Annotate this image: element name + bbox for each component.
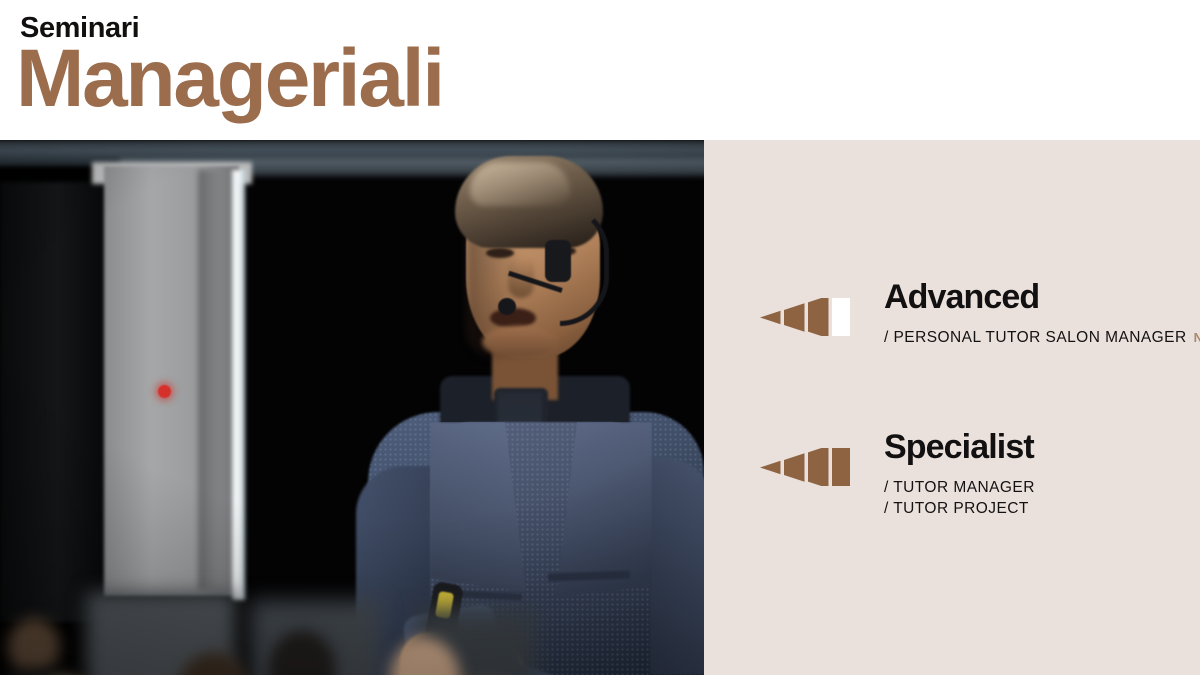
course-label: / PERSONAL TUTOR SALON MANAGER [884,329,1187,346]
page-title: Manageriali [16,38,443,120]
chevron-level-icon-advanced [760,298,850,336]
slide-root: Seminari Manageriali [0,0,1200,675]
level-courses-specialist: / TUTOR MANAGER / TUTOR PROJECT [884,477,1035,519]
stage-photo [0,140,704,675]
levels-panel: Advanced / PERSONAL TUTOR SALON MANAGERN… [704,140,1200,675]
course-line[interactable]: / TUTOR MANAGER [884,477,1035,498]
level-title-specialist: Specialist [884,430,1034,466]
course-line[interactable]: / PERSONAL TUTOR SALON MANAGERNEW [884,327,1200,348]
course-label: / TUTOR MANAGER [884,479,1035,496]
course-label: / TUTOR PROJECT [884,500,1029,517]
slide-header: Seminari Manageriali [0,0,1200,140]
status-badge: NEW [1194,330,1200,345]
level-title-advanced: Advanced [884,280,1039,316]
level-courses-advanced: / PERSONAL TUTOR SALON MANAGERNEW [884,327,1200,348]
chevron-level-icon-specialist [760,448,850,486]
course-line[interactable]: / TUTOR PROJECT [884,498,1035,519]
photo-vignette [0,140,704,675]
